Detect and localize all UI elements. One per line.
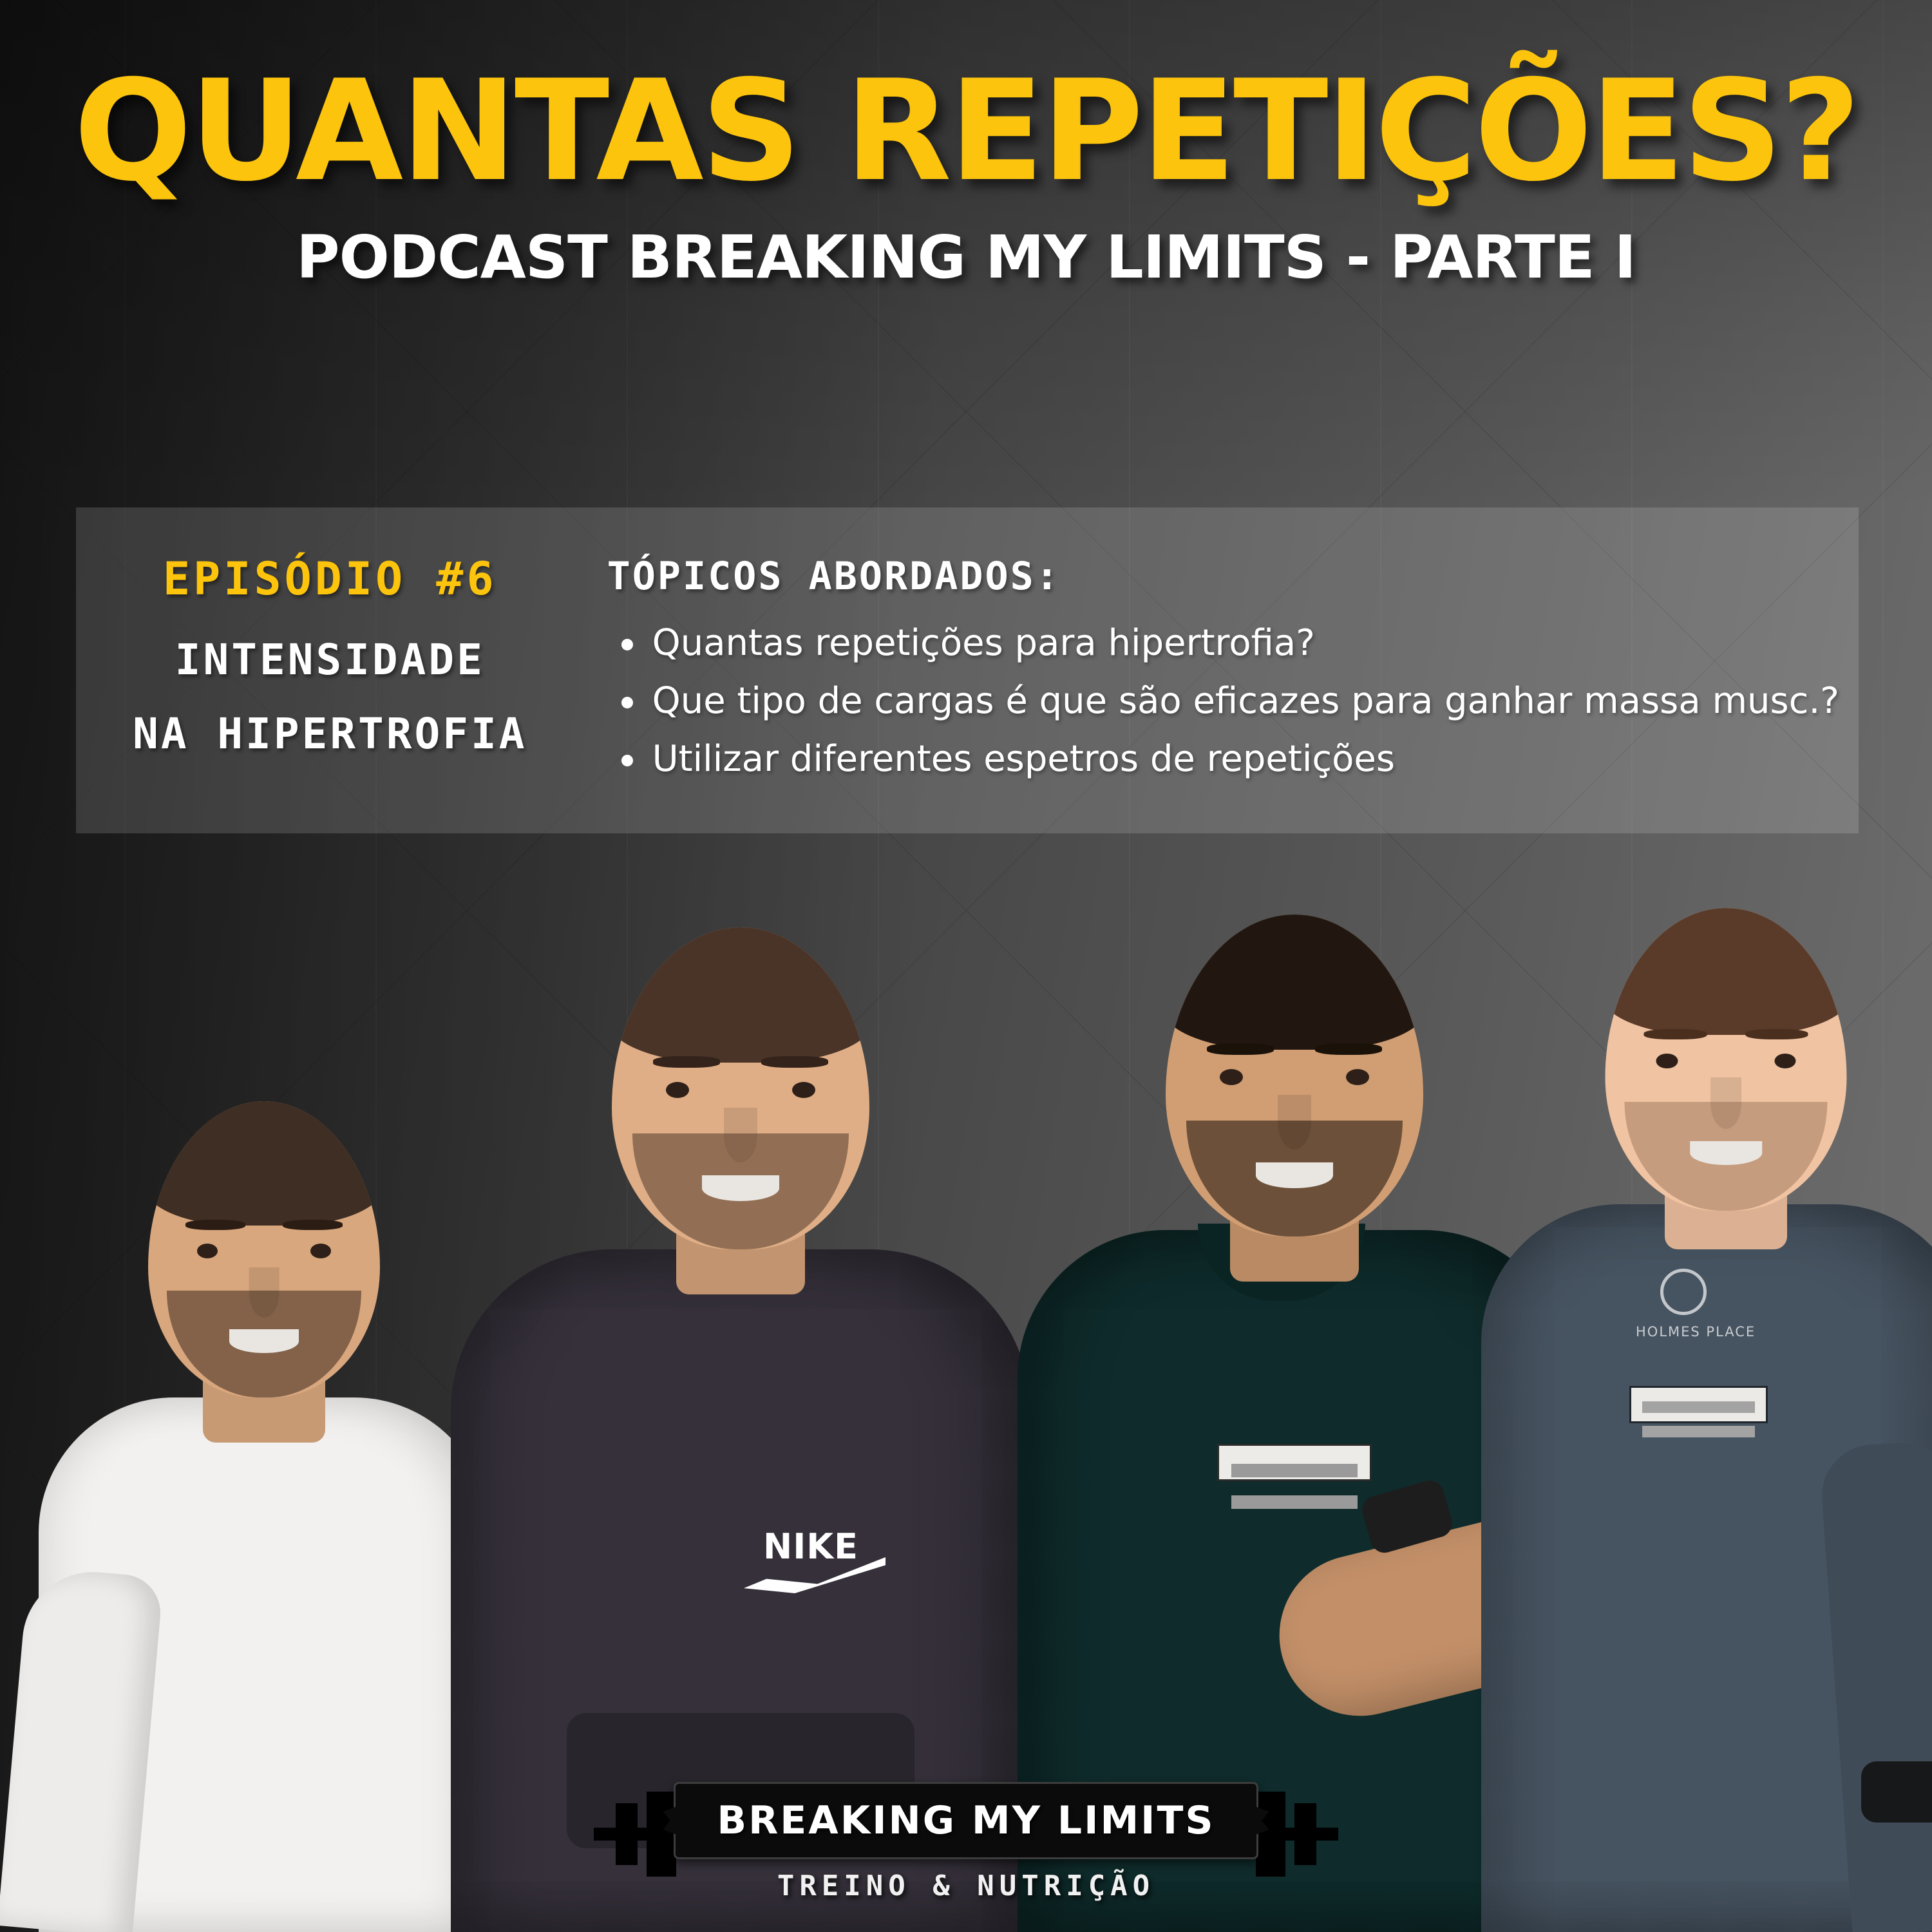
host-4-eyebrow-right [1745, 1029, 1808, 1039]
host-3-eyebrow-right [1315, 1043, 1382, 1055]
host-1-eye-left [197, 1244, 218, 1258]
host-portrait-2: NIKE [451, 760, 1030, 1932]
podcast-cover-poster: QUANTAS REPETIÇÕES? PODCAST BREAKING MY … [0, 0, 1932, 1932]
host-3-hair [1166, 914, 1423, 1050]
host-4-head [1605, 908, 1847, 1211]
host-2-eyebrow-left [653, 1056, 720, 1068]
list-item: Quantas repetições para hipertrofia? [607, 622, 1839, 665]
topics-column: TÓPICOS ABORDADOS: Quantas repetições pa… [584, 507, 1859, 833]
host-1-eyebrow-left [185, 1220, 246, 1230]
brand-name: BREAKING MY LIMITS [717, 1798, 1215, 1843]
host-portrait-1 [39, 947, 489, 1932]
topics-heading: TÓPICOS ABORDADOS: [607, 554, 1839, 599]
holmes-place-logo: HOLMES PLACE [1642, 1269, 1739, 1365]
host-1-mouth [229, 1329, 299, 1353]
episode-number-label: EPISÓDIO #6 [102, 553, 558, 605]
host-2-eyebrow-right [761, 1056, 828, 1068]
list-item: Que tipo de cargas é que são eficazes pa… [607, 680, 1839, 723]
nike-wordmark: NIKE [763, 1526, 858, 1567]
host-3-mouth [1256, 1162, 1333, 1188]
episode-summary-column: EPISÓDIO #6 INTENSIDADE NA HIPERTROFIA [76, 507, 584, 833]
host-2-head [612, 927, 869, 1249]
host-3-eye-left [1220, 1069, 1243, 1085]
host-3-eyebrow-left [1207, 1043, 1274, 1055]
holmes-place-wordmark: HOLMES PLACE [1636, 1324, 1745, 1340]
list-item: Utilizar diferentes espetros de repetiçõ… [607, 738, 1839, 781]
host-4-mouth [1690, 1141, 1763, 1166]
host-2-eye-left [666, 1082, 689, 1098]
host-2-eye-right [792, 1082, 815, 1098]
host-4-wristwatch [1861, 1761, 1932, 1823]
brand-logo: BREAKING MY LIMITS TREINO & NUTRIÇÃO [599, 1782, 1333, 1920]
host-1-head [148, 1101, 380, 1397]
host-1-eyebrow-right [283, 1220, 343, 1230]
host-1-eye-right [310, 1244, 331, 1258]
host-4-eyebrow-left [1644, 1029, 1707, 1039]
episode-info-panel: EPISÓDIO #6 INTENSIDADE NA HIPERTROFIA T… [76, 507, 1859, 833]
host-2-mouth [702, 1175, 779, 1201]
host-3-name-badge [1217, 1444, 1372, 1481]
host-3-eye-right [1346, 1069, 1369, 1085]
host-4-name-badge [1629, 1386, 1768, 1423]
episode-title-line-2: NA HIPERTROFIA [102, 709, 558, 759]
host-2-hair [612, 927, 869, 1063]
host-3-head [1166, 914, 1423, 1236]
brand-name-plate: BREAKING MY LIMITS [674, 1782, 1258, 1859]
topics-list: Quantas repetições para hipertrofia? Que… [607, 622, 1839, 781]
host-4-eye-left [1656, 1054, 1678, 1069]
episode-title-line-1: INTENSIDADE [102, 635, 558, 685]
holmes-place-ring-icon [1660, 1269, 1707, 1315]
host-4-eye-right [1774, 1054, 1796, 1069]
page-subtitle: PODCAST BREAKING MY LIMITS - PARTE I [0, 223, 1932, 292]
page-title: QUANTAS REPETIÇÕES? [0, 62, 1932, 201]
nike-logo: NIKE [744, 1526, 898, 1597]
host-4-hair [1605, 908, 1847, 1035]
title-block: QUANTAS REPETIÇÕES? PODCAST BREAKING MY … [0, 62, 1932, 292]
host-1-hair [148, 1101, 380, 1226]
